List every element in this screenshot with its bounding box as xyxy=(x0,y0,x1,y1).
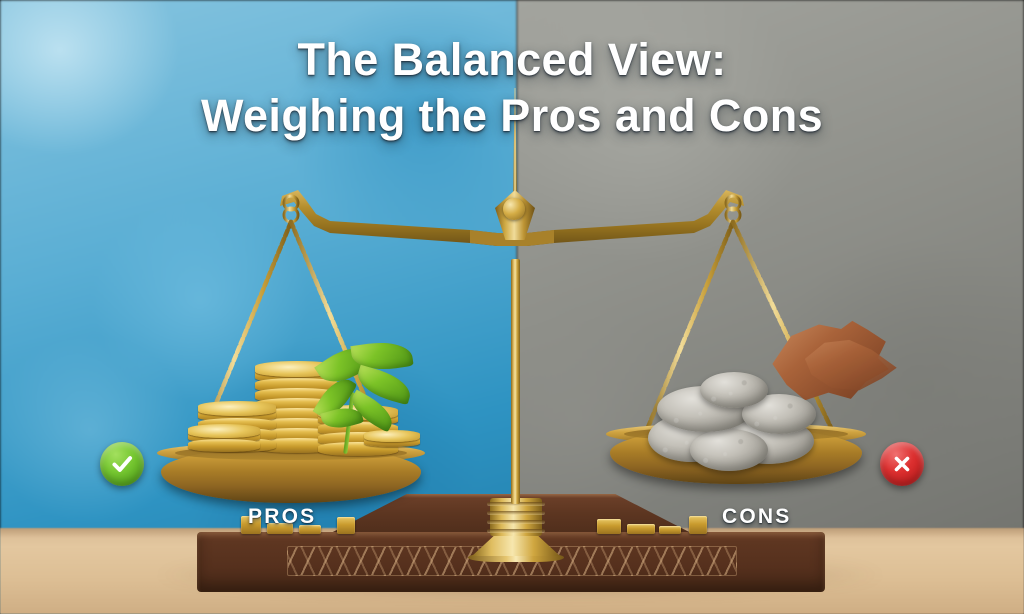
page-title: The Balanced View: Weighing the Pros and… xyxy=(0,34,1024,142)
cross-circle-icon xyxy=(890,452,914,476)
brass-weight xyxy=(337,517,355,534)
poster-canvas: The Balanced View: Weighing the Pros and… xyxy=(0,0,1024,614)
brass-weight xyxy=(627,524,655,534)
brass-weight xyxy=(597,519,621,534)
stone xyxy=(700,372,768,408)
pivot-knob xyxy=(503,198,525,220)
cons-cross-badge[interactable] xyxy=(880,442,924,486)
pros-check-badge[interactable] xyxy=(100,442,144,486)
brass-weight xyxy=(689,516,707,534)
title-line-1: The Balanced View: xyxy=(0,34,1024,85)
brass-weight xyxy=(659,526,681,534)
check-circle-icon xyxy=(109,451,135,477)
stone xyxy=(690,429,768,471)
column-shaft xyxy=(511,259,520,504)
pros-label: PROS xyxy=(248,505,316,529)
cons-label: CONS xyxy=(722,505,791,529)
title-line-2: Weighing the Pros and Cons xyxy=(0,90,1024,141)
left-pan xyxy=(161,447,421,507)
